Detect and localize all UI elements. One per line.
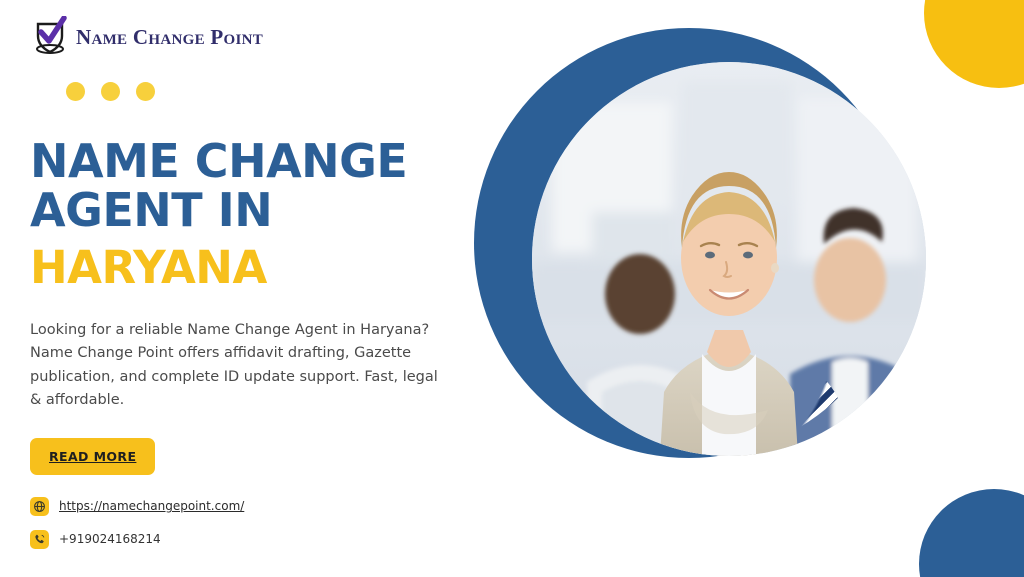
page-title: NAME CHANGE AGENT IN HARYANA <box>30 137 470 291</box>
website-url[interactable]: https://namechangepoint.com/ <box>59 499 244 513</box>
photo-composition <box>464 0 1024 577</box>
description-text: Looking for a reliable Name Change Agent… <box>30 319 438 412</box>
contact-website[interactable]: https://namechangepoint.com/ <box>30 497 470 516</box>
dot-1 <box>66 82 85 101</box>
headline-line-2: AGENT IN <box>30 186 470 235</box>
phone-number[interactable]: +919024168214 <box>59 532 161 546</box>
phone-icon <box>30 530 49 549</box>
headline-line-1: NAME CHANGE <box>30 137 470 186</box>
logo-wordmark: Name Change Point <box>76 25 263 50</box>
hero-photo-illustration <box>532 62 926 456</box>
checkmark-badge-icon <box>30 16 70 58</box>
dots-decoration <box>66 82 470 101</box>
read-more-button[interactable]: READ MORE <box>30 438 155 475</box>
content-column: Name Change Point NAME CHANGE AGENT IN H… <box>0 0 470 577</box>
globe-icon <box>30 497 49 516</box>
dot-2 <box>101 82 120 101</box>
contact-phone[interactable]: +919024168214 <box>30 530 470 549</box>
dot-3 <box>136 82 155 101</box>
hero-photo <box>532 62 926 456</box>
contact-list: https://namechangepoint.com/ +9190241682… <box>30 497 470 549</box>
promo-banner: Name Change Point NAME CHANGE AGENT IN H… <box>0 0 1024 577</box>
logo[interactable]: Name Change Point <box>30 0 470 58</box>
headline-accent-region: HARYANA <box>30 244 470 292</box>
